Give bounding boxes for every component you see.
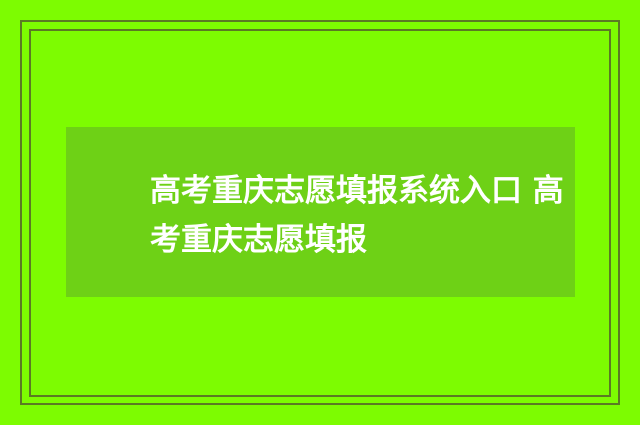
image-canvas: 高考重庆志愿填报系统入口 高考重庆志愿填报 <box>0 0 640 425</box>
headline-panel: 高考重庆志愿填报系统入口 高考重庆志愿填报 <box>66 127 575 297</box>
headline-text: 高考重庆志愿填报系统入口 高考重庆志愿填报 <box>150 167 570 265</box>
